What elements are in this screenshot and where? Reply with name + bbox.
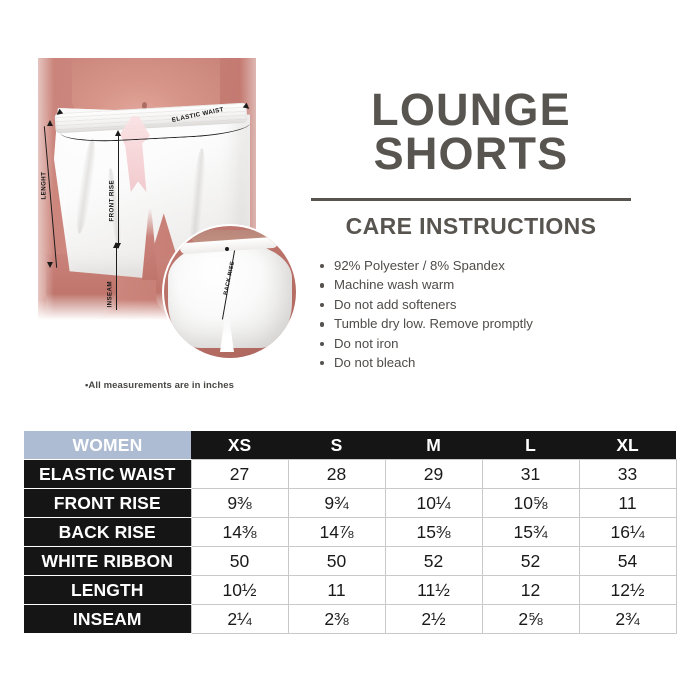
cell-value: 2⅜ [288, 605, 385, 634]
list-item: Do not add softeners [318, 295, 533, 314]
cell-value: 31 [482, 460, 579, 489]
table-row: LENGTH 10½ 11 11½ 12 12½ [24, 576, 676, 605]
measurement-label-length: LENGHT [41, 172, 48, 200]
page-title: LOUNGE SHORTS [310, 88, 632, 176]
cell-value: 2⅝ [482, 605, 579, 634]
arrow-head-icon [113, 242, 119, 248]
size-chart-table: WOMEN XS S M L XL ELASTIC WAIST 27 28 29… [24, 431, 677, 634]
cell-value: 12 [482, 576, 579, 605]
table-header-size-l: L [482, 431, 579, 460]
cell-value: 54 [579, 547, 676, 576]
title-divider [311, 198, 631, 201]
cell-value: 16¼ [579, 518, 676, 547]
row-label: INSEAM [24, 605, 191, 634]
cell-value: 50 [191, 547, 288, 576]
row-label: BACK RISE [24, 518, 191, 547]
care-instructions-heading: CARE INSTRUCTIONS [310, 213, 632, 240]
row-label: LENGTH [24, 576, 191, 605]
row-label: WHITE RIBBON [24, 547, 191, 576]
table-row: ELASTIC WAIST 27 28 29 31 33 [24, 460, 676, 489]
cell-value: 9¾ [288, 489, 385, 518]
cell-value: 9⅜ [191, 489, 288, 518]
list-item: 92% Polyester / 8% Spandex [318, 256, 533, 275]
table-header-row: WOMEN XS S M L XL [24, 431, 676, 460]
inseam-line [116, 248, 117, 310]
table-row: INSEAM 2¼ 2⅜ 2½ 2⅝ 2¾ [24, 605, 676, 634]
cell-value: 2¼ [191, 605, 288, 634]
row-label: FRONT RISE [24, 489, 191, 518]
cell-value: 52 [385, 547, 482, 576]
arrow-head-icon [115, 130, 121, 136]
back-view-inset: BACK RISE [164, 226, 296, 358]
cell-value: 11 [288, 576, 385, 605]
cell-value: 27 [191, 460, 288, 489]
cell-value: 14⅜ [191, 518, 288, 547]
table-header-size-xs: XS [191, 431, 288, 460]
care-instructions-list: 92% Polyester / 8% Spandex Machine wash … [318, 256, 533, 372]
cell-value: 2¾ [579, 605, 676, 634]
table-header-size-xl: XL [579, 431, 676, 460]
title-line-1: LOUNGE [310, 88, 632, 132]
title-line-2: SHORTS [310, 132, 632, 176]
table-row: BACK RISE 14⅜ 14⅞ 15⅜ 15¾ 16¼ [24, 518, 676, 547]
cell-value: 15¾ [482, 518, 579, 547]
cell-value: 50 [288, 547, 385, 576]
row-label: ELASTIC WAIST [24, 460, 191, 489]
cell-value: 10⅝ [482, 489, 579, 518]
cell-value: 33 [579, 460, 676, 489]
back-rise-endpoint-icon [225, 247, 229, 251]
cell-value: 2½ [385, 605, 482, 634]
cell-value: 52 [482, 547, 579, 576]
list-item: Do not bleach [318, 353, 533, 372]
measurement-label-front-rise: FRONT RISE [109, 180, 116, 221]
cell-value: 10¼ [385, 489, 482, 518]
list-item: Tumble dry low. Remove promptly [318, 314, 533, 333]
cell-value: 11½ [385, 576, 482, 605]
list-item: Machine wash warm [318, 275, 533, 294]
list-item: Do not iron [318, 334, 533, 353]
table-header-women: WOMEN [24, 431, 191, 460]
cell-value: 15⅜ [385, 518, 482, 547]
arrow-head-icon [47, 262, 53, 268]
table-row: FRONT RISE 9⅜ 9¾ 10¼ 10⅝ 11 [24, 489, 676, 518]
front-rise-line [118, 136, 119, 248]
table-header-size-m: M [385, 431, 482, 460]
cell-value: 11 [579, 489, 676, 518]
cell-value: 14⅞ [288, 518, 385, 547]
table-row: WHITE RIBBON 50 50 52 52 54 [24, 547, 676, 576]
cell-value: 29 [385, 460, 482, 489]
cell-value: 28 [288, 460, 385, 489]
table-header-size-s: S [288, 431, 385, 460]
arrow-head-icon [47, 120, 53, 126]
cell-value: 12½ [579, 576, 676, 605]
cell-value: 10½ [191, 576, 288, 605]
measurement-label-inseam: INSEAM [107, 281, 114, 307]
measurement-units-note: •All measurements are in inches [85, 380, 234, 391]
